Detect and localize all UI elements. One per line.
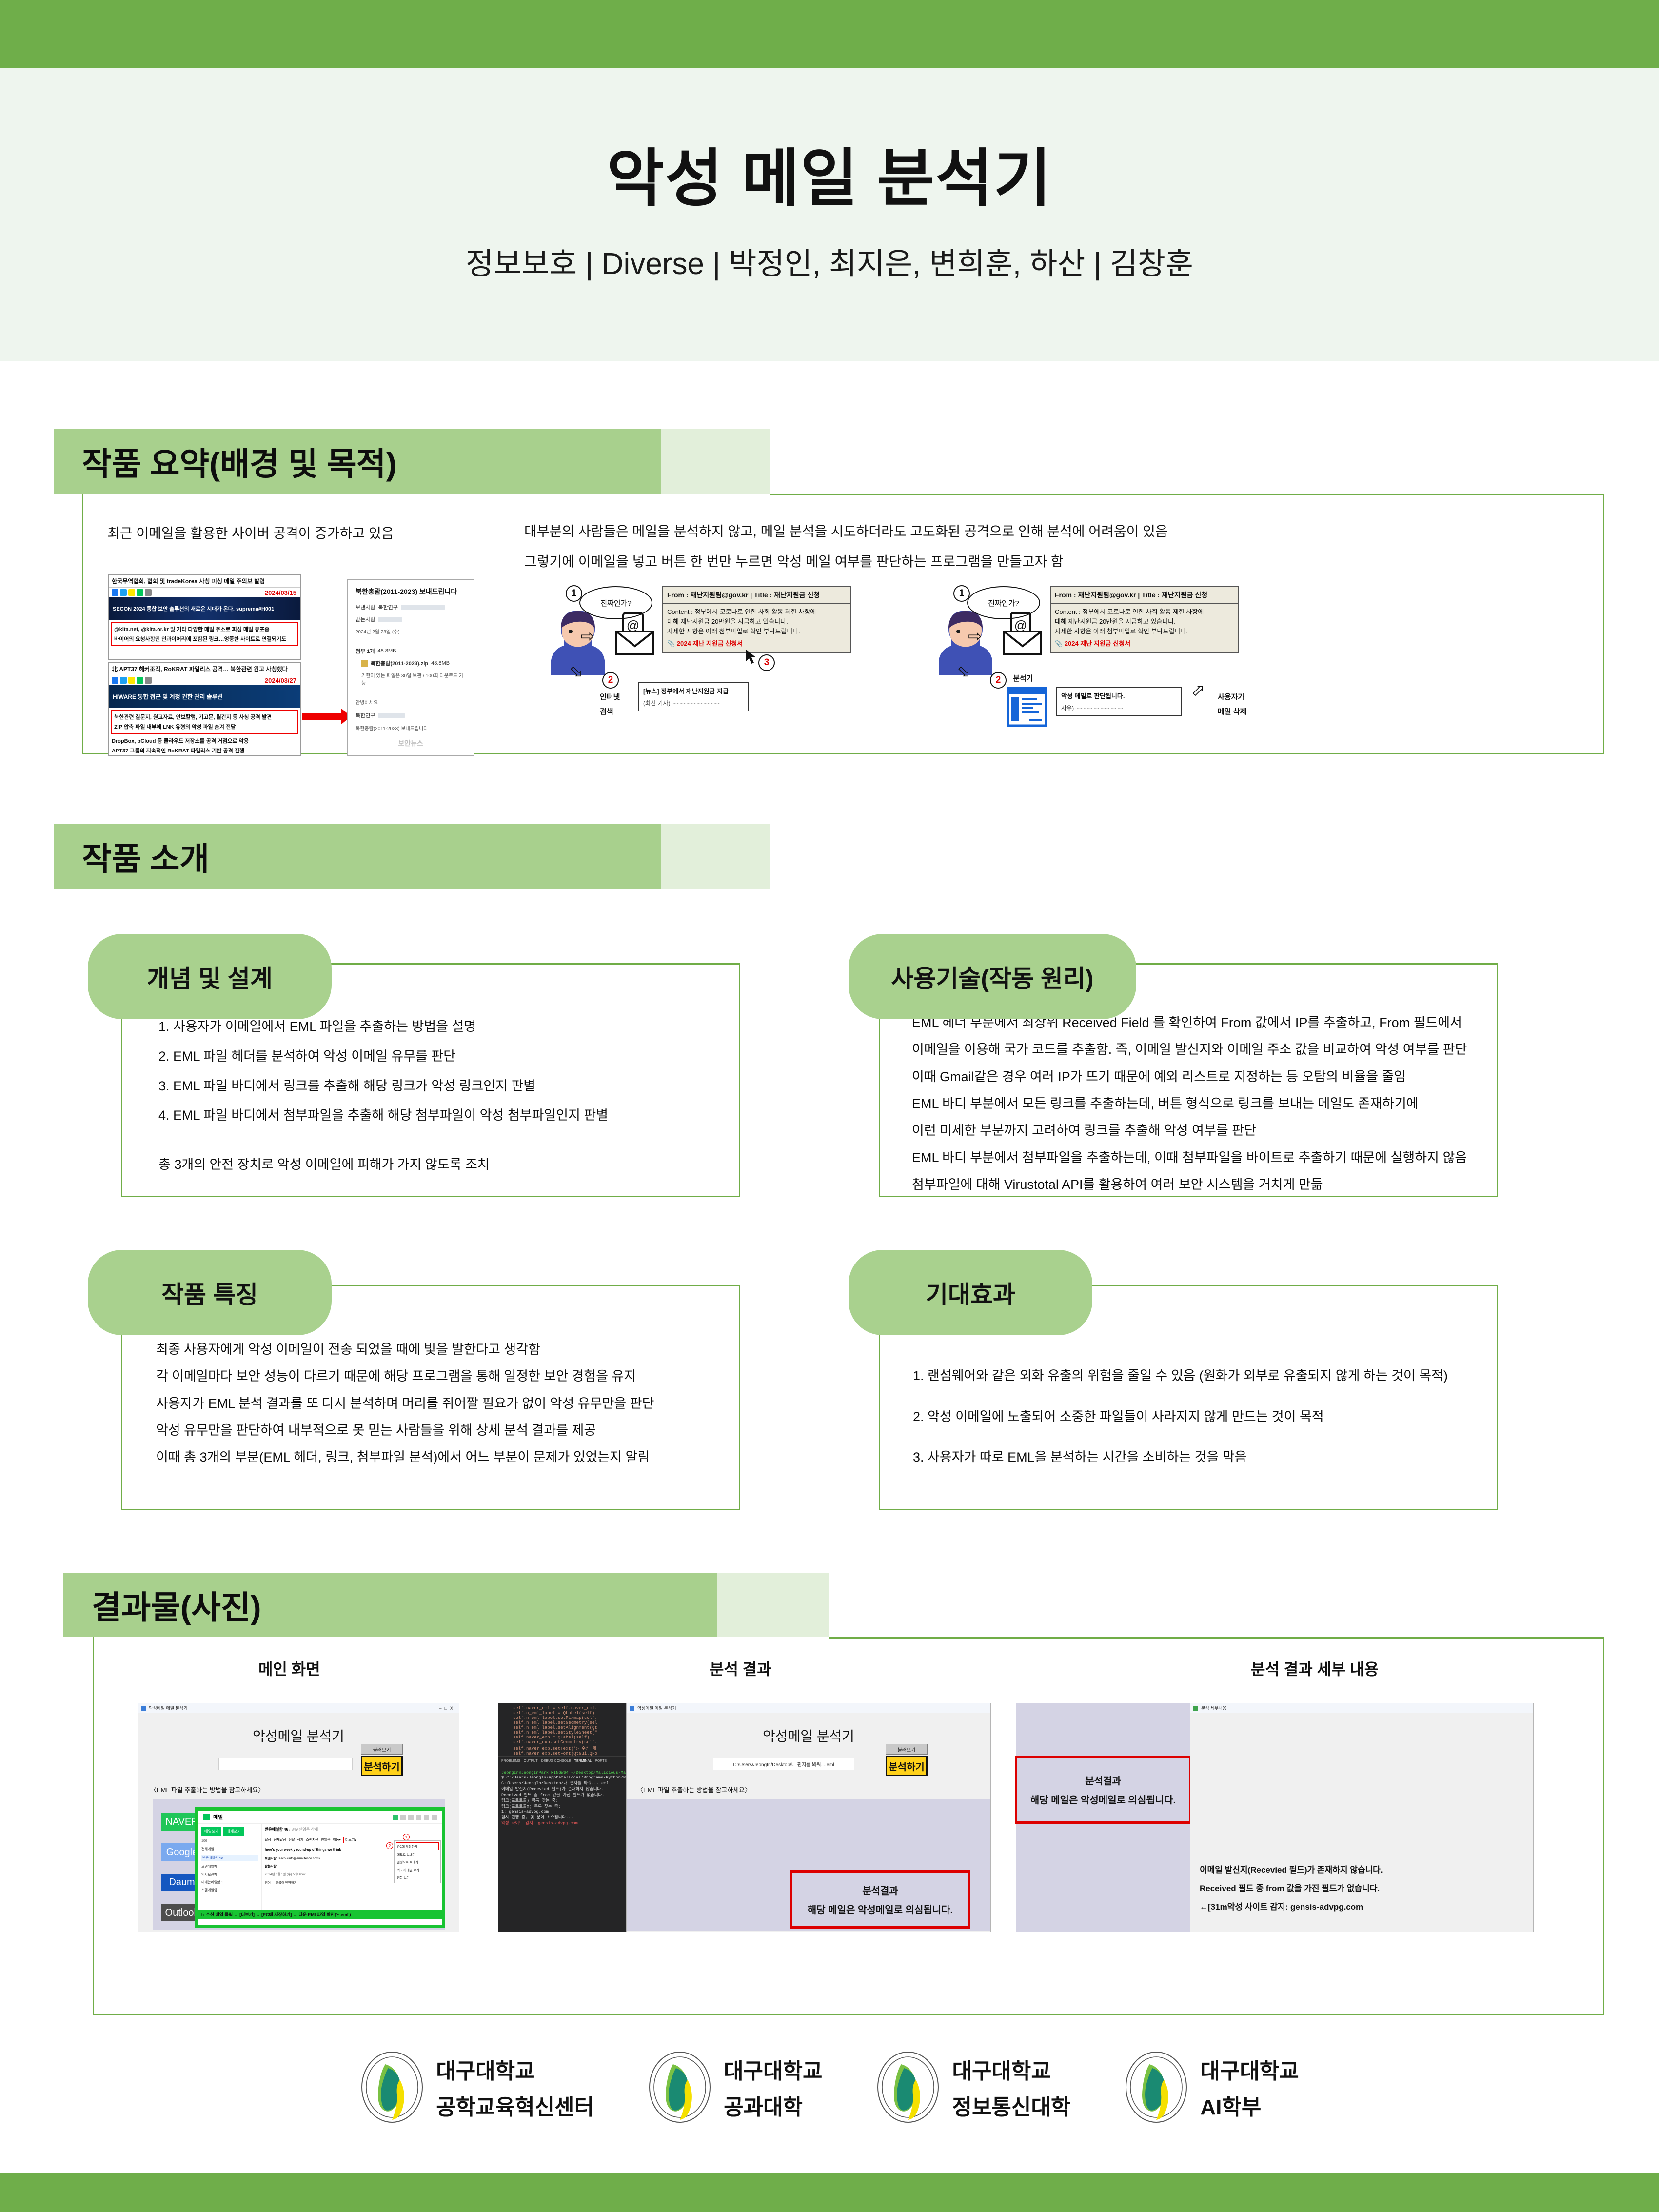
naver-compose-button[interactable]: 메일쓰기 (201, 1827, 221, 1836)
card-effects-body: 1. 랜섬웨어와 같은 외화 유출의 위험을 줄일 수 있음 (원화가 외부로 … (913, 1356, 1488, 1478)
naver-folder-1[interactable]: 전체메일 (201, 1847, 258, 1852)
results-box-left-edge (93, 1637, 94, 2015)
card-features-body: 최종 사용자에게 악성 이메일이 전송 되었을 때에 빛을 발한다고 생각함 각… (156, 1336, 731, 1471)
detail-text-line-2: Received 필드 중 from 값을 가진 필드가 없습니다. (1200, 1881, 1380, 1894)
title-band: 악성 메일 분석기 정보보호 | Diverse | 박정인, 최지은, 변희훈… (0, 68, 1659, 361)
flow-left-step-3-number: 3 (758, 654, 775, 671)
mail-sample-to-blur (378, 617, 402, 622)
logo-text-1: 대구대학교 공학교육혁신센터 (436, 2054, 594, 2121)
news-2-line-3: DropBox, pCloud 등 클라우드 저장소를 공격 거점으로 악용 (109, 736, 300, 746)
contacts-icon[interactable] (408, 1815, 414, 1820)
flow-left-news-title: [뉴스] 정부에서 재난지원금 지급 (643, 686, 744, 695)
card-tech-line-3: 이때 Gmail같은 경우 여러 IP가 뜨기 때문에 예외 리스트로 지정하는… (912, 1064, 1487, 1090)
news-2-title: 北 APT37 해커조직, RoKRAT 파일리스 공격… 북한관련 원고 사칭… (109, 663, 300, 675)
main-run-button[interactable]: 분석하기 (361, 1756, 403, 1776)
code-terminal-tabs: PROBLEMS OUTPUT DEBUG CONSOLE TERMINAL P… (498, 1756, 626, 1766)
card-tech-title: 사용기술(작동 원리) (891, 959, 1093, 994)
flow-left-bubble-text: 진짜인가? (600, 598, 632, 608)
logo-1-line-2: 공학교육혁신센터 (436, 2090, 594, 2121)
section-results: 결과물(사진) (63, 1573, 829, 1637)
results-heading-bar: 결과물(사진) (63, 1573, 829, 1637)
naver-toolbar-icons (393, 1815, 437, 1820)
logo-text-3: 대구대학교 정보통신대학 (952, 2054, 1070, 2121)
news-2-banner: HIWARE 통합 접근 및 계정 권한 관리 솔루션 (109, 685, 300, 708)
naver-guide-header: 메일 (198, 1811, 442, 1824)
naver-inbox-total: / 849 (289, 1827, 298, 1832)
email-envelope-icon: @ (1002, 612, 1043, 657)
flow-left-news-card: [뉴스] 정부에서 재난지원금 지급 (최신 기사) ~~~~~~~~~~~~~… (638, 682, 749, 711)
naver-tool-move[interactable]: 이동▾ (333, 1837, 341, 1842)
mouse-cursor-icon (745, 649, 759, 665)
news-1-date: 2024/03/15 (265, 589, 300, 596)
summary-heading-fade (661, 429, 770, 494)
flow-right-step-2-number: 2 (990, 672, 1007, 689)
svg-text:@: @ (1014, 618, 1027, 632)
flow-diagram-left: 1 진짜인가? ⇨ @ From : 재난지원팀@gov.kr | Title … (551, 580, 912, 741)
mail-sample-signer-row: 북한연구 (355, 711, 466, 719)
naver-tool-unread[interactable]: 안읽음 (321, 1837, 330, 1842)
flag-icon[interactable] (432, 1815, 437, 1820)
naver-tool-more[interactable]: 더보기▴ (343, 1837, 358, 1843)
mail-sample-from-row: 보낸사람 북한연구 (355, 603, 466, 611)
card-features-line-5: 이때 총 3개의 부분(EML 헤더, 링크, 첨부파일 분석)에서 어느 부분… (156, 1444, 731, 1471)
caption-main-screen: 메인 화면 (258, 1657, 320, 1679)
results-box-top-edge (829, 1637, 1604, 1639)
flow-right-analyzer-label: 분석기 (1013, 673, 1033, 683)
logo-2-line-1: 대구대학교 (724, 2054, 822, 2085)
page-title: 악성 메일 분석기 (607, 146, 1052, 212)
card-tech-line-2: 이메일을 이용해 국가 코드를 추출함. 즉, 이메일 발신지와 이메일 주소 … (912, 1036, 1487, 1063)
tab-output[interactable]: OUTPUT (524, 1759, 538, 1763)
mail-sample-divider-2 (355, 692, 466, 692)
news-2-line-1: 북한관련 질문지, 원고자료, 안보칼럼, 기고문, 월간지 등 사칭 공격 발… (114, 712, 295, 722)
news-2-social-icons (109, 675, 155, 685)
list-icon[interactable] (400, 1815, 406, 1820)
intro-heading-solid: 작품 소개 (54, 824, 661, 889)
naver-guide-caption: ▷ 수신 메일 클릭 → [더보기] → [PC에 저장하기] → 다운 EML… (198, 1910, 442, 1919)
naver-tool-spam[interactable]: 스팸차단 (306, 1837, 318, 1842)
news-screenshot-1: 한국무역협회, 협회 및 tradeKorea 사칭 피싱 메일 주의보 발령 … (108, 574, 301, 660)
naver-menu-foreign[interactable]: 외국어 메일 보기 (396, 1866, 439, 1874)
red-arrow-shaft (302, 713, 343, 720)
flow-diagram-right: 1 진짜인가? ⇨ @ From : 재난지원팀@gov.kr | Title … (939, 580, 1290, 741)
daegu-university-seal-icon (1124, 2051, 1188, 2124)
logo-unit-3: 대구대학교 정보통신대학 (876, 2051, 1070, 2124)
kakao-icon (128, 589, 135, 596)
naver-icon (137, 677, 143, 684)
naver-inbox-heading: 받은메일함 46 / 849 안읽음 삭제 (265, 1827, 439, 1832)
naver-icon (137, 589, 143, 596)
twitter-icon (120, 677, 127, 684)
flow-left-email-card: From : 재난지원팀@gov.kr | Title : 재난지원금 신청 C… (662, 586, 851, 653)
naver-folder-5[interactable]: 내게쓴메일함 1 (201, 1880, 258, 1885)
facebook-icon (112, 677, 118, 684)
term-line-8: 링크(프로토콜X) 목록 찾는 중: (498, 1803, 626, 1809)
daegu-university-seal-icon (360, 2051, 424, 2124)
app-icon (1193, 1706, 1198, 1711)
analysis-load-button[interactable]: 불러오기 (886, 1744, 928, 1755)
naver-self-button[interactable]: 내게쓰기 (223, 1827, 243, 1836)
app-icon (630, 1706, 634, 1711)
flow-right-email-body-3: 자세한 사항은 아래 첨부파일로 확인 부탁드립니다. (1055, 627, 1234, 636)
flow-right-email-body-1: Content : 정부에서 코로나로 인한 사회 활동 제한 사항에 (1055, 607, 1234, 617)
card-features-pill: 작품 특징 (88, 1250, 332, 1335)
caption-analysis-detail: 분석 결과 세부 내용 (1251, 1657, 1379, 1679)
logo-unit-1: 대구대학교 공학교육혁신센터 (360, 2051, 594, 2124)
naver-sidebar: 메일쓰기 내게쓰기 106 전체메일 받은메일함 46 보낸메일함 임시보관함 … (198, 1824, 262, 1910)
detail-text-line-3: ←[31m악성 사이트 감지: gensis-advpg.com (1200, 1900, 1363, 1912)
card-concept-line-3: 3. EML 파일 바디에서 링크를 추출해 해당 링크가 악성 링크인지 판별 (158, 1071, 719, 1101)
mail-sample-date: 2024년 2월 28일 (수) (355, 628, 466, 635)
naver-sender-value: Tesco <info@emailtesco.com> (277, 1857, 321, 1860)
naver-compose-row: 메일쓰기 내게쓰기 (201, 1827, 258, 1836)
main-window-titlebar: 악성메일 메일 분석기 –□X (138, 1703, 459, 1713)
main-window-title: 악성메일 메일 분석기 (149, 1705, 188, 1711)
flow-right-result-title: 악성 메일로 판단됩니다. (1061, 691, 1176, 700)
results-heading-text: 결과물(사진) (92, 1581, 261, 1628)
bottom-green-band (0, 2173, 1659, 2212)
naver-brand-label: 메일 (213, 1813, 223, 1821)
mail-sample-attach-size: 48.8MB (378, 648, 396, 654)
card-features-line-1: 최종 사용자에게 악성 이메일이 전송 되었을 때에 빛을 발한다고 생각함 (156, 1336, 731, 1363)
flow-left-attach-text: 2024 재난 지원금 신청서 (677, 640, 743, 647)
term-line-4: 이메일 발신지(Recevied 필드)가 존재하지 않습니다. (498, 1786, 626, 1792)
caption-analysis-result: 분석 결과 (710, 1657, 771, 1679)
mail-sample-signer-blur (378, 713, 405, 718)
news-2-line-4: APT37 그룹의 지속적인 RoKRAT 파일리스 기반 공격 진행 (109, 746, 300, 755)
detail-result-line-1: 분석결과 (1085, 1773, 1121, 1787)
code-line-11: self.naver_exp.setText('▷ 수신 메 (498, 1745, 626, 1751)
term-line-5: Received 필드 중 from 값을 가진 필드가 없습니다. (498, 1792, 626, 1797)
analysis-result-line-2: 해당 메일은 악성메일로 의심됩니다. (808, 1902, 953, 1916)
intro-heading-bar: 작품 소개 (54, 824, 770, 889)
paperclip-icon: 📎 (667, 640, 675, 647)
mail-sample-attach-row: 첨부 1개 48.8MB (355, 647, 466, 655)
mail-sample-greeting: 안녕하세요 (355, 698, 466, 706)
mail-sample-divider (355, 641, 466, 641)
naver-folder-4[interactable]: 임시보관함 (201, 1872, 258, 1877)
analysis-path-input[interactable]: C:/Users/JeongIn/Desktop/내 편지를 봐줘....eml (713, 1758, 854, 1770)
naver-menu-schedule[interactable]: 일정으로 보내기 (396, 1858, 439, 1866)
tab-ports[interactable]: PORTS (595, 1759, 607, 1763)
card-tech-body: EML 헤더 부분에서 최상위 Received Field 를 확인하여 Fr… (912, 1009, 1487, 1198)
analysis-window-titlebar: 악성메일 메일 분석기 (627, 1703, 990, 1713)
window-controls[interactable]: –□X (439, 1706, 456, 1711)
news-1-title: 한국무역협회, 협회 및 tradeKorea 사칭 피싱 메일 주의보 발령 (109, 575, 300, 588)
summary-box-right-edge (1603, 494, 1604, 754)
flow-right-arrow-up: ⇨ (1186, 678, 1210, 702)
flow-left-email-body-2: 대해 재난지원금 20만원을 지급하고 있습니다. (667, 617, 847, 627)
term-line-9: 1: gensis-advpg.com (498, 1809, 626, 1814)
results-heading-fade (717, 1573, 829, 1637)
section-intro: 작품 소개 (54, 824, 770, 889)
analysis-result-box: 분석결과 해당 메일은 악성메일로 의심됩니다. (790, 1870, 970, 1929)
naver-step-2-number: 2 (386, 1842, 393, 1849)
footer-logo-row: 대구대학교 공학교육혁신센터 대구대학교 공과대학 (0, 2014, 1659, 2160)
card-features-line-2: 각 이메일마다 보안 성능이 다르기 때문에 해당 프로그램을 통해 일정한 보… (156, 1363, 731, 1390)
flow-left-email-body-1: Content : 정부에서 코로나로 인한 사회 활동 제한 사항에 (667, 607, 847, 617)
flow-right-bubble-text: 진짜인가? (988, 598, 1019, 608)
top-green-band (0, 0, 1659, 68)
summary-left-text: 최근 이메일을 활용한 사이버 공격이 증가하고 있음 (107, 523, 394, 542)
summary-box-top-edge (770, 494, 1604, 495)
flow-left-search-label-2: 검색 (600, 706, 613, 716)
detail-text-line-1: 이메일 발신지(Recevied 필드)가 존재하지 않습니다. (1200, 1863, 1382, 1875)
naver-guide-frame: 메일 메일쓰기 내게쓰기 106 전체메일 받은메일함 46 보낸메일함 (195, 1807, 445, 1928)
naver-count-unread: 106 (201, 1839, 258, 1843)
term-line-11: 검사 진행 중, 몇 분이 소요됩니다... (498, 1814, 626, 1820)
term-line-3: C:/Users/JeongIn/Desktop/내 편지를 봐줘....eml (498, 1780, 626, 1786)
main-eml-note: 〈EML 파일 추출하는 방법을 참고하세요〉 (150, 1785, 264, 1794)
naver-menu-memo[interactable]: 메모로 보내기 (396, 1850, 439, 1858)
flow-right-email-body: Content : 정부에서 코로나로 인한 사회 활동 제한 사항에 대해 재… (1051, 604, 1238, 652)
mail-sample-to-row: 받는사람 (355, 615, 466, 623)
trash-icon[interactable] (424, 1815, 429, 1820)
term-line-2: $ C:/Users/JeongIn/AppData/Local/Program… (498, 1775, 626, 1780)
mail-sample-watermark: 보안뉴스 (355, 738, 466, 748)
card-concept-footer: 총 3개의 안전 장치로 악성 이메일에 피해가 가지 않도록 조치 (158, 1150, 719, 1180)
code-line-4: self.n_eml_label.setPixmap(self. (498, 1716, 626, 1720)
news-1-highlight: @kita.net, @kita.or.kr 및 기타 다양한 메일 주소로 피… (111, 622, 298, 646)
flow-left-email-attachment: 📎 2024 재난 지원금 신청서 (667, 639, 847, 649)
mail-sample-attach-file: 북한총람(2011-2023).zip 48.8MB (355, 659, 466, 667)
analysis-app-title: 악성메일 분석기 (627, 1713, 990, 1745)
mail-sample-subject: 북한총람(2011-2023) 보내드립니다 (355, 587, 466, 596)
card-tech-line-5: 이런 미세한 부분까지 고려하여 링크를 추출해 악성 여부를 판단 (912, 1117, 1487, 1144)
naver-guide-body: 메일쓰기 내게쓰기 106 전체메일 받은메일함 46 보낸메일함 임시보관함 … (198, 1824, 442, 1910)
mail-sample-attach-name: 북한총람(2011-2023).zip (371, 659, 428, 667)
naver-mail-pane: 받은메일함 46 / 849 안읽음 삭제 답장 전체답장 전달 삭제 스팸차단… (262, 1824, 442, 1910)
svg-text:@: @ (627, 618, 639, 632)
naver-tool-reply[interactable]: 답장 (265, 1837, 271, 1842)
page-subtitle: 정보보호 | Diverse | 박정인, 최지은, 변희훈, 하산 | 김창훈 (466, 239, 1193, 283)
mail-sample-attach-name-size: 48.8MB (431, 660, 450, 666)
calendar-icon[interactable] (393, 1815, 398, 1820)
card-effects-line-2: 2. 악성 이메일에 노출되어 소중한 파일들이 사라지지 않게 만드는 것이 … (913, 1397, 1488, 1438)
analysis-window-title: 악성메일 메일 분석기 (637, 1705, 676, 1711)
screenshot-code-pane: self.naver_eml = self.naver_eml. self.n_… (498, 1703, 626, 1932)
news-2-date: 2024/03/27 (265, 677, 300, 684)
summary-right-text-2: 그렇기에 이메일을 넣고 버튼 한 번만 누르면 악성 메일 여부를 판단하는 … (524, 551, 1064, 571)
summary-heading-text: 작품 요약(배경 및 목적) (82, 438, 396, 485)
analyzer-window-icon (1007, 687, 1047, 727)
summary-box-left-edge (82, 494, 83, 754)
code-line-12: self.naver_exp.setFont(QtGui.QFo (498, 1751, 626, 1756)
card-effects-line-3: 3. 사용자가 따로 EML을 분석하는 시간을 소비하는 것을 막음 (913, 1437, 1488, 1478)
main-path-input[interactable] (218, 1758, 353, 1770)
mail-sample-to-label: 받는사람 (355, 615, 375, 623)
results-box-right-edge (1603, 1637, 1604, 2015)
logo-1-line-1: 대구대학교 (436, 2054, 594, 2085)
flow-left-email-header: From : 재난지원팀@gov.kr | Title : 재난지원금 신청 (663, 587, 850, 604)
logo-unit-4: 대구대학교 AI학부 (1124, 2051, 1299, 2124)
flow-right-action-label-2: 메일 삭제 (1218, 706, 1246, 716)
flow-left-email-body: Content : 정부에서 코로나로 인한 사회 활동 제한 사항에 대해 재… (663, 604, 850, 652)
logo-2-line-2: 공과대학 (724, 2090, 822, 2121)
logo-4-line-2: AI학부 (1200, 2090, 1299, 2121)
kakao-icon (128, 677, 135, 684)
flow-left-email-body-3: 자세한 사항은 아래 첨부파일로 확인 부탁드립니다. (667, 627, 847, 636)
flow-right-email-header: From : 재난지원팀@gov.kr | Title : 재난지원금 신청 (1051, 587, 1238, 604)
flow-right-attach-text: 2024 재난 지원금 신청서 (1065, 640, 1130, 647)
news-1-line-1: @kita.net, @kita.or.kr 및 기타 다양한 메일 주소로 피… (114, 624, 295, 634)
screenshot-detail-window: 분석 세부내용 (1190, 1703, 1534, 1932)
mail-sample-card: 북한총람(2011-2023) 보내드립니다 보낸사람 북한연구 받는사람 20… (347, 579, 474, 756)
paperclip-icon: 📎 (1055, 640, 1063, 647)
card-tech-line-4: EML 바디 부분에서 모든 링크를 추출하는데, 버튼 형식으로 링크를 보내… (912, 1090, 1487, 1117)
news-screenshot-2: 北 APT37 해커조직, RoKRAT 파일리스 공격… 북한관련 원고 사칭… (108, 662, 301, 756)
logo-unit-2: 대구대학교 공과대학 (648, 2051, 822, 2124)
flow-right-email-body-2: 대해 재난지원금 20만원을 지급하고 있습니다. (1055, 617, 1234, 627)
share-icon (145, 677, 152, 684)
analysis-run-button[interactable]: 분석하기 (886, 1756, 928, 1776)
card-concept-title: 개념 및 설계 (147, 959, 273, 994)
flow-right-email-attachment: 📎 2024 재난 지원금 신청서 (1055, 639, 1234, 649)
app-icon (141, 1706, 146, 1711)
card-features-title: 작품 특징 (161, 1275, 258, 1310)
card-concept-body: 1. 사용자가 이메일에서 EML 파일을 추출하는 방법을 설명 2. EML… (158, 1012, 719, 1180)
code-line-3: self.n_eml_label = QLabel(self) (498, 1711, 626, 1716)
mail-sample-from-label: 보낸사람 (355, 603, 375, 611)
tab-terminal[interactable]: TERMINAL (574, 1759, 592, 1763)
logo-3-line-1: 대구대학교 (952, 2054, 1070, 2085)
code-line-5: self.n_eml_label.setGeometry(sel (498, 1720, 626, 1725)
detail-window-title: 분석 세부내용 (1201, 1705, 1226, 1711)
naver-more-dropdown: PC에 저장하기 메모로 보내기 일정으로 보내기 외국어 메일 보기 원문 보… (394, 1840, 441, 1883)
flow-right-email-card: From : 재난지원팀@gov.kr | Title : 재난지원금 신청 C… (1050, 586, 1239, 653)
email-envelope-icon: @ (614, 612, 655, 657)
news-2-highlight: 북한관련 질문지, 원고자료, 안보칼럼, 기고문, 월간지 등 사칭 공격 발… (111, 710, 298, 734)
poster-root: 악성 메일 분석기 정보보호 | Diverse | 박정인, 최지은, 변희훈… (0, 0, 1659, 2212)
mail-sample-from-blur (401, 605, 445, 610)
naver-sender-label: 보낸사람 (265, 1857, 276, 1860)
flow-right-arrow-right: ⇨ (968, 627, 982, 646)
analysis-eml-note: 〈EML 파일 추출하는 방법을 참고하세요〉 (637, 1785, 751, 1794)
news-2-line-2: ZIP 압축 파일 내부에 LNK 유형의 악성 파일 숨겨 전달 (114, 722, 295, 731)
term-line-1: JeongIn@JeongInPark MINGW64 ~/Desktop/Ma… (498, 1770, 626, 1775)
naver-tool-reply-all[interactable]: 전체답장 (274, 1837, 286, 1842)
term-line-13: 악성 사이트 감지: gensis-advpg.com (498, 1820, 626, 1826)
naver-folder-2[interactable]: 받은메일함 46 (201, 1855, 258, 1861)
summary-right-text-1: 대부분의 사람들은 메일을 분석하지 않고, 메일 분석을 시도하더라도 고도화… (524, 521, 1168, 540)
naver-folder-6[interactable]: 스팸메일함 (201, 1888, 258, 1893)
card-concept-line-2: 2. EML 파일 헤더를 분석하여 악성 이메일 유무를 판단 (158, 1042, 719, 1071)
flow-left-search-label-1: 인터넷 (600, 691, 620, 702)
term-line-6: 링크(프로토콜) 목록 찾는 중: (498, 1797, 626, 1803)
card-effects-title: 기대효과 (926, 1275, 1015, 1310)
summary-box-bottom-edge (82, 753, 1604, 754)
naver-step-1-number: 1 (403, 1834, 410, 1840)
intro-heading-fade (661, 824, 770, 889)
tab-debug-console[interactable]: DEBUG CONSOLE (541, 1759, 571, 1763)
summary-heading-solid: 작품 요약(배경 및 목적) (54, 429, 661, 494)
card-features-line-3: 사용자가 EML 분석 결과를 또 다시 분석하며 머리를 쥐어짤 필요가 없이… (156, 1390, 731, 1417)
twitter-icon (120, 589, 127, 596)
naver-menu-source[interactable]: 원문 보기 (396, 1874, 439, 1881)
section-summary: 작품 요약(배경 및 목적) (54, 429, 1604, 494)
logo-4-line-1: 대구대학교 (1200, 2054, 1299, 2085)
mail-sample-signer: 북한연구 (355, 711, 375, 719)
flow-right-result-card: 악성 메일로 판단됩니다. 사유) ~~~~~~~~~~~~~~ (1056, 687, 1182, 716)
card-concept-spacer (158, 1130, 719, 1150)
intro-heading-text: 작품 소개 (82, 833, 209, 880)
logo-text-2: 대구대학교 공과대학 (724, 2054, 822, 2121)
naver-folder-3[interactable]: 보낸메일함 (201, 1864, 258, 1869)
card-tech-line-7: 첨부파일에 대해 Virustotal API를 활용하여 여러 보안 시스템을… (912, 1171, 1487, 1198)
flow-right-result-sub: 사유) ~~~~~~~~~~~~~~ (1061, 704, 1176, 712)
mail-sample-retention: 기한이 있는 파일은 30일 보관 / 100회 다운로드 가능 (355, 671, 466, 686)
news-1-banner: SECON 2024 통합 보안 솔루션의 새로운 시대가 온다. suprem… (109, 597, 300, 620)
main-load-button[interactable]: 불러오기 (361, 1744, 403, 1755)
card-effects-pill: 기대효과 (849, 1250, 1092, 1335)
detail-window-titlebar: 분석 세부내용 (1190, 1703, 1533, 1713)
mail-sample-from-value: 북한연구 (378, 603, 397, 611)
news-1-social-icons (109, 588, 155, 597)
logo-text-4: 대구대학교 AI학부 (1200, 2054, 1299, 2121)
zip-file-icon (361, 660, 368, 667)
gear-icon[interactable] (416, 1815, 421, 1820)
naver-menu-save-pc[interactable]: PC에 저장하기 (396, 1842, 439, 1850)
flow-left-arrow-right: ⇨ (580, 627, 594, 646)
flow-left-step-2-number: 2 (602, 672, 619, 689)
daegu-university-seal-icon (876, 2051, 940, 2124)
card-tech-pill: 사용기술(작동 원리) (849, 934, 1136, 1019)
results-heading-solid: 결과물(사진) (63, 1573, 717, 1637)
facebook-icon (112, 589, 118, 596)
naver-logo-icon (203, 1814, 210, 1820)
card-tech-line-6: EML 바디 부분에서 첨부파일을 추출하는데, 이때 첨부파일을 바이트로 추… (912, 1145, 1487, 1171)
card-concept-line-4: 4. EML 파일 바디에서 첨부파일을 추출해 해당 첨부파일이 악성 첨부파… (158, 1101, 719, 1130)
detail-result-line-2: 해당 메일은 악성메일로 의심됩니다. (1030, 1792, 1176, 1806)
mail-sample-attach-label: 첨부 1개 (355, 647, 375, 655)
tab-problems[interactable]: PROBLEMS (501, 1759, 520, 1763)
card-concept-pill: 개념 및 설계 (88, 934, 332, 1019)
mail-sample-closing: 북한총람(2011-2023) 보내드립니다 (355, 724, 466, 731)
flow-right-action-label-1: 사용자가 (1218, 691, 1244, 702)
code-line-7: self.n_eml_label.setStyleSheet(" (498, 1730, 626, 1735)
code-line-10: self.naver_exp.setGeometry(self. (498, 1740, 626, 1745)
logo-3-line-2: 정보통신대학 (952, 2090, 1070, 2121)
naver-tool-delete[interactable]: 삭제 (297, 1837, 304, 1842)
naver-inbox-action[interactable]: 안읽음 삭제 (299, 1827, 318, 1832)
news-1-line-2: 바이어의 요청사항인 인콰이어리에 포함된 링크…엉뚱한 사이트로 연결되기도 (114, 634, 295, 644)
code-terminal-output: JeongIn@JeongInPark MINGW64 ~/Desktop/Ma… (498, 1766, 626, 1826)
flow-left-news-sub: (최신 기사) ~~~~~~~~~~~~~~ (643, 699, 744, 707)
naver-inbox-label: 받은메일함 46 (265, 1827, 288, 1832)
share-icon (145, 589, 152, 596)
naver-tool-forward[interactable]: 전달 (289, 1837, 295, 1842)
card-effects-line-1: 1. 랜섬웨어와 같은 외화 유출의 위험을 줄일 수 있음 (원화가 외부로 … (913, 1356, 1488, 1397)
main-app-title: 악성메일 분석기 (138, 1713, 459, 1745)
code-line-1: self.naver_eml = self.naver_eml. (498, 1706, 626, 1711)
daegu-university-seal-icon (648, 2051, 712, 2124)
summary-heading-bar: 작품 요약(배경 및 목적) (54, 429, 770, 494)
code-editor-area: self.naver_eml = self.naver_eml. self.n_… (498, 1703, 626, 1756)
code-line-6: self.n_eml_label.setAlignment(Qt (498, 1725, 626, 1730)
card-features-line-4: 악성 유무만을 판단하여 내부적으로 못 믿는 사람들을 위해 상세 분석 결과… (156, 1417, 731, 1444)
detail-result-box: 분석결과 해당 메일은 악성메일로 의심됩니다. (1015, 1756, 1191, 1824)
analysis-result-line-1: 분석결과 (862, 1883, 898, 1897)
code-line-9: self.naver_exp = QLabel(self) (498, 1735, 626, 1740)
